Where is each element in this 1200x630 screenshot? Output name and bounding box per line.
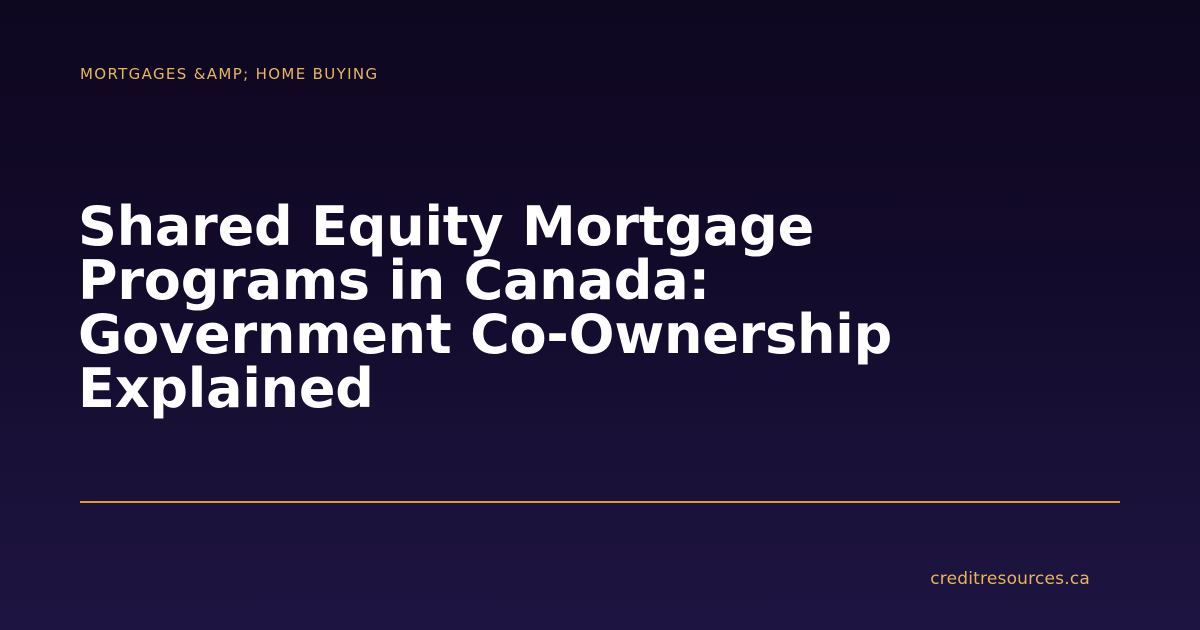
accent-divider: [80, 501, 1120, 503]
page-title: Shared Equity Mortgage Programs in Canad…: [78, 200, 1088, 416]
card-content: MORTGAGES &AMP; HOME BUYING Shared Equit…: [80, 0, 1120, 630]
category-kicker: MORTGAGES &AMP; HOME BUYING: [80, 63, 378, 85]
social-share-card: MORTGAGES &AMP; HOME BUYING Shared Equit…: [0, 0, 1200, 630]
site-domain: creditresources.ca: [80, 567, 1090, 591]
